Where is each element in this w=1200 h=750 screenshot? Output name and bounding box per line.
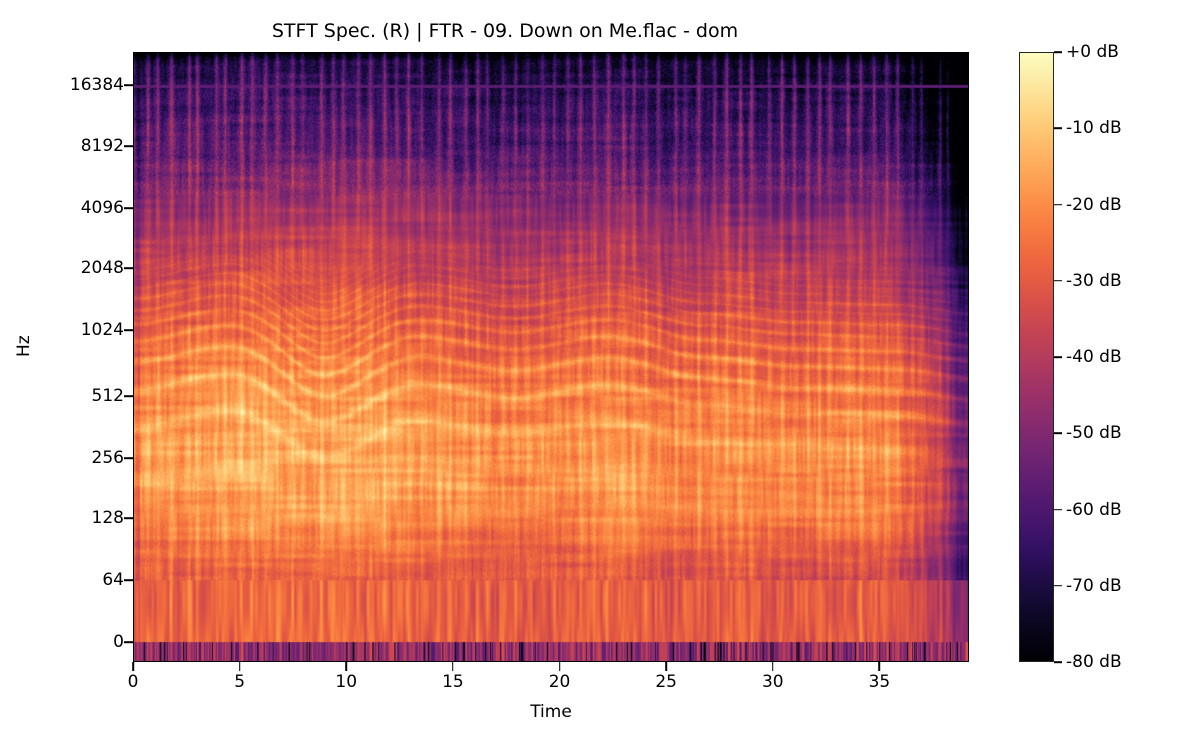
colorbar-tick-label-6: -60 dB [1066,500,1122,520]
colorbar-tick-mark-4 [1054,356,1062,358]
x-tick-label-0: 0 [128,672,139,692]
y-tick-mark-4096 [124,207,133,209]
x-tick-label-5: 5 [234,672,245,692]
y-tick-mark-0 [124,641,133,643]
colorbar-tick-label-0: +0 dB [1066,42,1119,62]
x-tick-mark-10 [345,662,347,671]
x-tick-mark-5 [239,662,241,671]
y-tick-label-512: 512 [92,386,124,406]
page-title: STFT Spec. (R) | FTR - 09. Down on Me.fl… [0,20,1010,42]
x-tick-mark-35 [879,662,881,671]
colorbar-tick-mark-0 [1054,51,1062,53]
spectrogram-canvas [134,53,968,661]
y-tick-label-2048: 2048 [81,258,124,278]
y-tick-mark-64 [124,579,133,581]
colorbar-tick-label-1: -10 dB [1066,118,1122,138]
y-tick-mark-256 [124,457,133,459]
colorbar-tick-mark-6 [1054,509,1062,511]
x-tick-mark-30 [772,662,774,671]
y-tick-label-128: 128 [92,508,124,528]
y-tick-mark-16384 [124,84,133,86]
y-tick-mark-2048 [124,267,133,269]
x-tick-label-30: 30 [762,672,784,692]
colorbar-tick-mark-8 [1054,661,1062,663]
x-tick-label-10: 10 [335,672,357,692]
spectrogram-plot-area [133,52,969,662]
colorbar-tick-label-4: -40 dB [1066,347,1122,367]
y-tick-label-256: 256 [92,448,124,468]
colorbar-tick-label-2: -20 dB [1066,195,1122,215]
y-tick-mark-1024 [124,329,133,331]
y-tick-label-64: 64 [102,570,124,590]
colorbar-tick-mark-1 [1054,127,1062,129]
colorbar [1019,52,1054,662]
x-tick-mark-20 [559,662,561,671]
y-axis-label: Hz [14,335,34,357]
x-tick-mark-25 [665,662,667,671]
x-tick-label-35: 35 [869,672,891,692]
y-tick-mark-128 [124,517,133,519]
x-tick-label-15: 15 [442,672,464,692]
x-tick-mark-15 [452,662,454,671]
colorbar-tick-mark-5 [1054,432,1062,434]
y-tick-label-1024: 1024 [81,320,124,340]
spectrogram-figure: STFT Spec. (R) | FTR - 09. Down on Me.fl… [0,0,1200,750]
x-axis-label: Time [133,702,969,722]
colorbar-tick-label-7: -70 dB [1066,576,1122,596]
x-tick-mark-0 [132,662,134,671]
x-tick-label-25: 25 [655,672,677,692]
colorbar-tick-mark-3 [1054,280,1062,282]
colorbar-tick-label-8: -80 dB [1066,652,1122,672]
colorbar-tick-label-5: -50 dB [1066,423,1122,443]
y-tick-label-4096: 4096 [81,198,124,218]
y-tick-mark-8192 [124,145,133,147]
colorbar-gradient [1020,53,1053,661]
y-tick-label-8192: 8192 [81,136,124,156]
y-tick-label-0: 0 [113,632,124,652]
y-tick-mark-512 [124,395,133,397]
colorbar-tick-mark-7 [1054,585,1062,587]
colorbar-tick-mark-2 [1054,204,1062,206]
y-tick-label-16384: 16384 [70,75,124,95]
colorbar-tick-label-3: -30 dB [1066,271,1122,291]
x-tick-label-20: 20 [549,672,571,692]
